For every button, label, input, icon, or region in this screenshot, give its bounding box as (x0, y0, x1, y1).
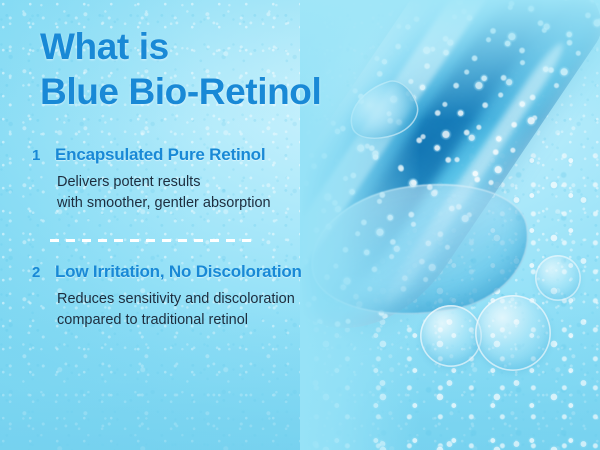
feature-2-title: Low Irritation, No Discoloration (55, 262, 302, 282)
feature-1-body-line-1: Delivers potent results (57, 172, 362, 193)
large-bubble (420, 305, 482, 367)
large-bubble (535, 255, 581, 301)
feature-2-body: Reduces sensitivity and discoloration co… (57, 289, 362, 330)
text-content: What is Blue Bio-Retinol 1 Encapsulated … (0, 0, 380, 450)
page-title: What is Blue Bio-Retinol (40, 24, 321, 114)
title-line-2: Blue Bio-Retinol (40, 69, 321, 114)
feature-item-2: 2 Low Irritation, No Discoloration Reduc… (32, 262, 362, 330)
feature-item-1: 1 Encapsulated Pure Retinol Delivers pot… (32, 145, 362, 213)
feature-1-body-line-2: with smoother, gentler absorption (57, 193, 362, 214)
feature-2-number: 2 (32, 264, 55, 281)
dashed-divider (50, 239, 256, 242)
title-line-1: What is (40, 26, 169, 67)
feature-1-body: Delivers potent results with smoother, g… (57, 172, 362, 213)
feature-2-heading: 2 Low Irritation, No Discoloration (32, 262, 362, 282)
feature-1-heading: 1 Encapsulated Pure Retinol (32, 145, 362, 165)
banner-canvas: What is Blue Bio-Retinol 1 Encapsulated … (0, 0, 600, 450)
feature-1-number: 1 (32, 147, 55, 164)
feature-1-title: Encapsulated Pure Retinol (55, 145, 265, 165)
feature-2-body-line-2: compared to traditional retinol (57, 310, 362, 331)
feature-2-body-line-1: Reduces sensitivity and discoloration (57, 289, 362, 310)
large-bubble (475, 295, 551, 371)
